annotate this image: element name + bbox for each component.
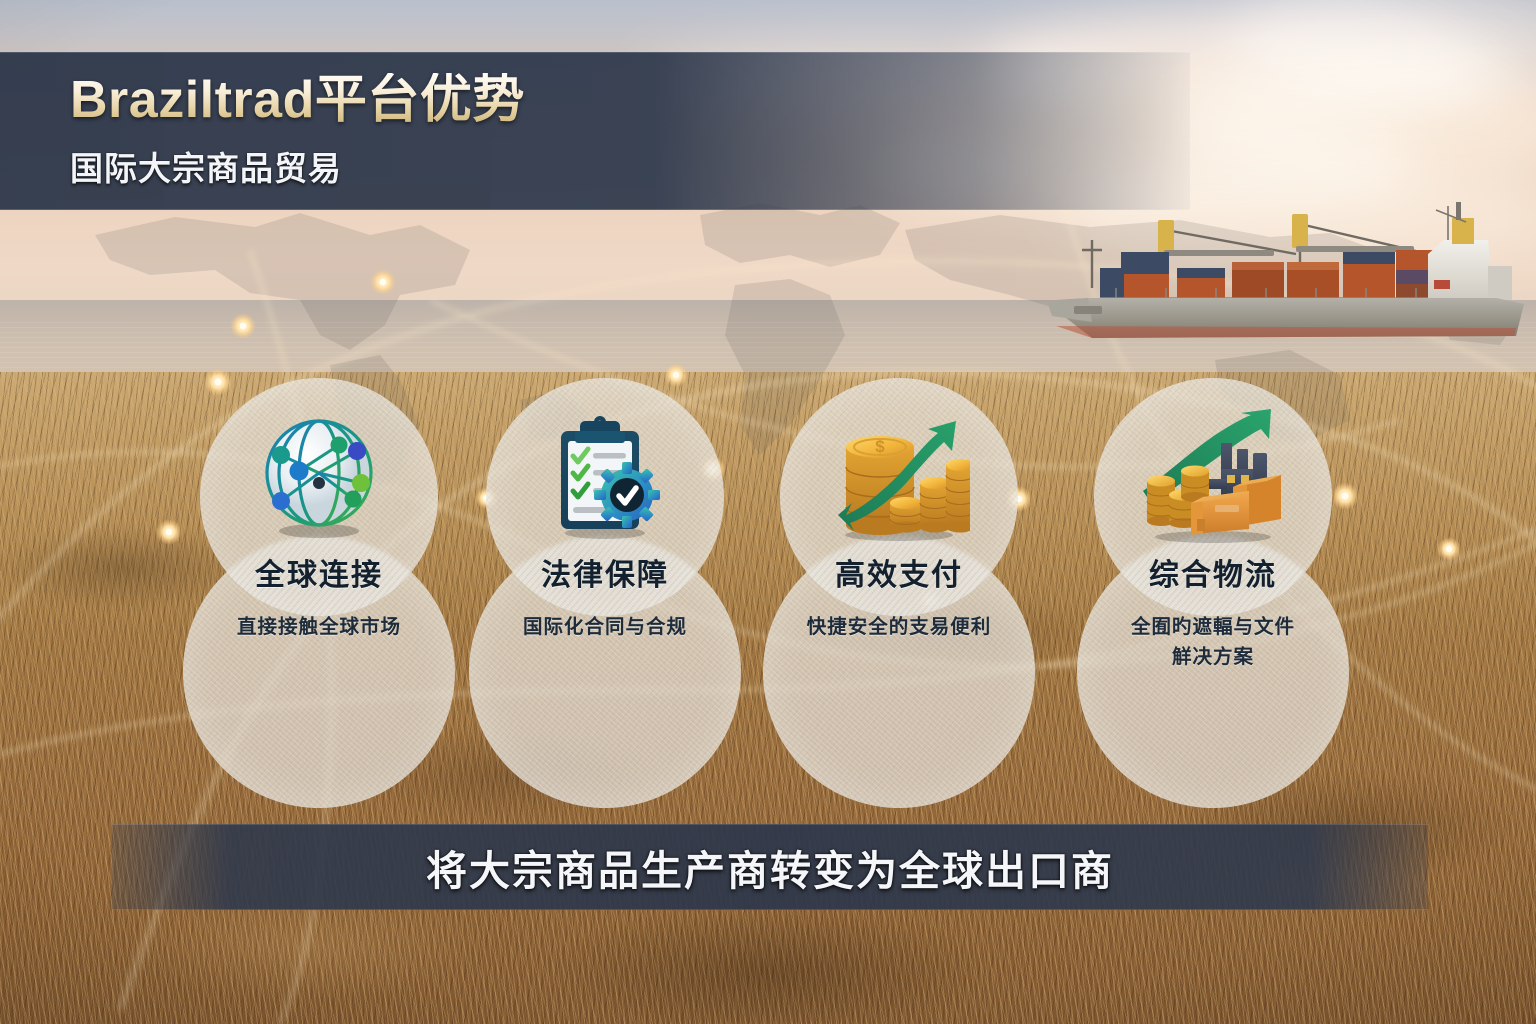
clipboard-check-gear-icon (525, 406, 685, 548)
svg-text:$: $ (875, 437, 885, 456)
footer-tagline: 将大宗商品生产商转变为全球出口商 (426, 837, 1114, 897)
coins-growth-arrow-icon: $ (819, 406, 979, 548)
globe-network-icon (239, 406, 399, 548)
card-title: 法律保障 (462, 550, 748, 594)
card-description: 直接接触全球市场 (176, 612, 462, 642)
card-description-line: 觧决方案 (1172, 646, 1254, 668)
card-title: 全球连接 (176, 550, 462, 594)
feature-card-efficient-payment[interactable]: $ (756, 378, 1042, 738)
logistics-forklift-boxes-icon (1133, 406, 1293, 548)
card-description-line: 全囿旳遮輻与文件 (1131, 616, 1295, 638)
card-title: 综合物流 (1070, 550, 1356, 594)
infographic-stage: Braziltrad平台优势 国际大宗商品贸易 (0, 0, 1536, 1024)
feature-card-global-connection[interactable]: 全球连接 直接接触全球市场 (176, 378, 462, 738)
card-title: 高效支付 (756, 550, 1042, 594)
card-description: 国际化合同与合规 (462, 612, 748, 642)
feature-card-integrated-logistics[interactable]: 综合物流 全囿旳遮輻与文件 觧决方案 (1070, 378, 1356, 738)
footer-banner: 将大宗商品生产商转变为全球出口商 (112, 824, 1428, 910)
card-description: 全囿旳遮輻与文件 觧决方案 (1070, 612, 1356, 672)
feature-card-legal-protection[interactable]: 法律保障 国际化合同与合规 (462, 378, 748, 738)
card-description: 快捷安全的支易便利 (756, 612, 1042, 642)
